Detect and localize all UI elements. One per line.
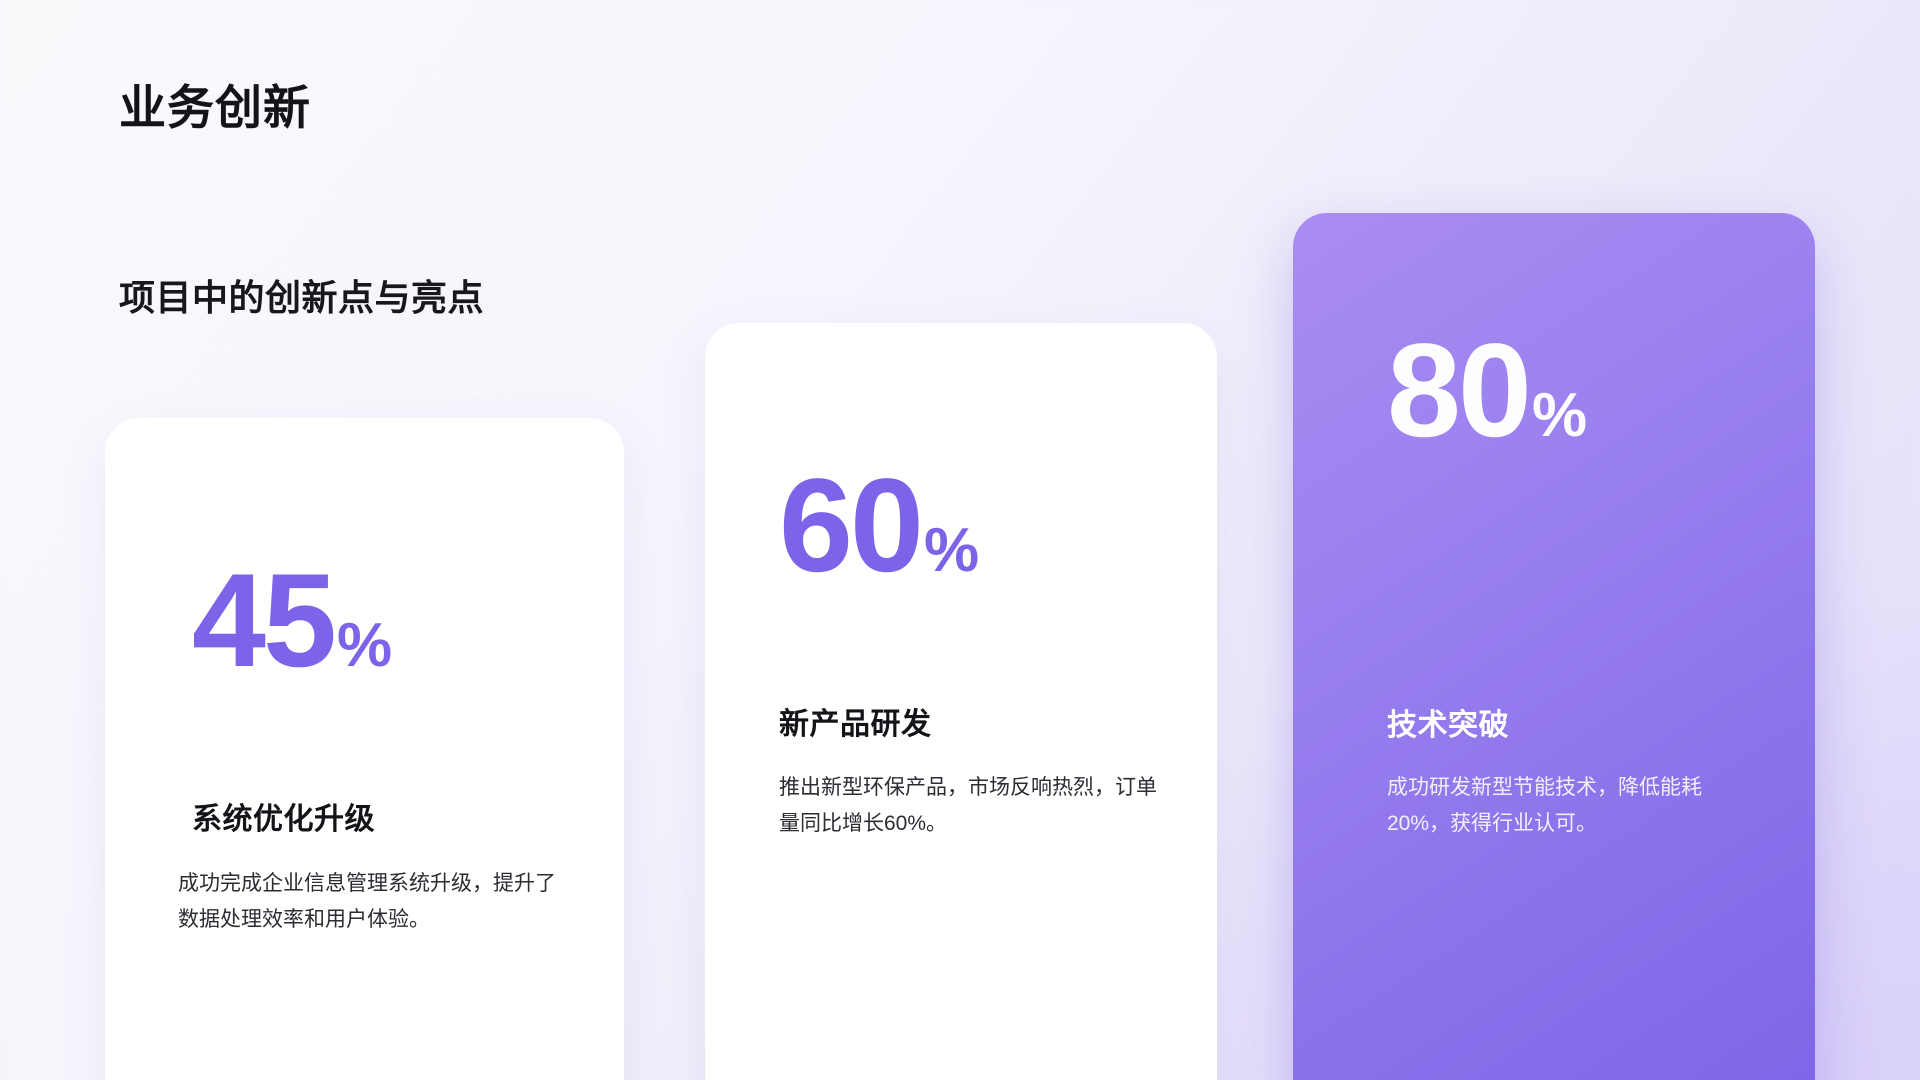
- section-title: 项目中的创新点与亮点: [119, 272, 539, 323]
- stat-unit-3: %: [1532, 387, 1586, 444]
- stat-unit-1: %: [337, 617, 391, 674]
- card-heading-2: 新产品研发: [779, 705, 1159, 744]
- stat-number-2: 60: [779, 465, 921, 587]
- stat-number-1: 45: [192, 560, 334, 682]
- stat-card-system-optimization[interactable]: [105, 418, 624, 1080]
- card-body-2: 推出新型环保产品，市场反响热烈，订单量同比增长60%。: [779, 770, 1159, 842]
- card-body-1: 成功完成企业信息管理系统升级，提升了数据处理效率和用户体验。: [178, 866, 568, 938]
- stat-card-new-product-rd[interactable]: [705, 323, 1217, 1080]
- card-heading-1: 系统优化升级: [192, 800, 572, 839]
- stat-unit-2: %: [924, 522, 978, 579]
- card-heading-3: 技术突破: [1387, 706, 1767, 745]
- page-title: 业务创新: [119, 80, 311, 136]
- card-body-3: 成功研发新型节能技术，降低能耗20%，获得行业认可。: [1387, 770, 1759, 842]
- stat-value-3: 80 %: [1387, 330, 1920, 452]
- stat-number-3: 80: [1387, 330, 1529, 452]
